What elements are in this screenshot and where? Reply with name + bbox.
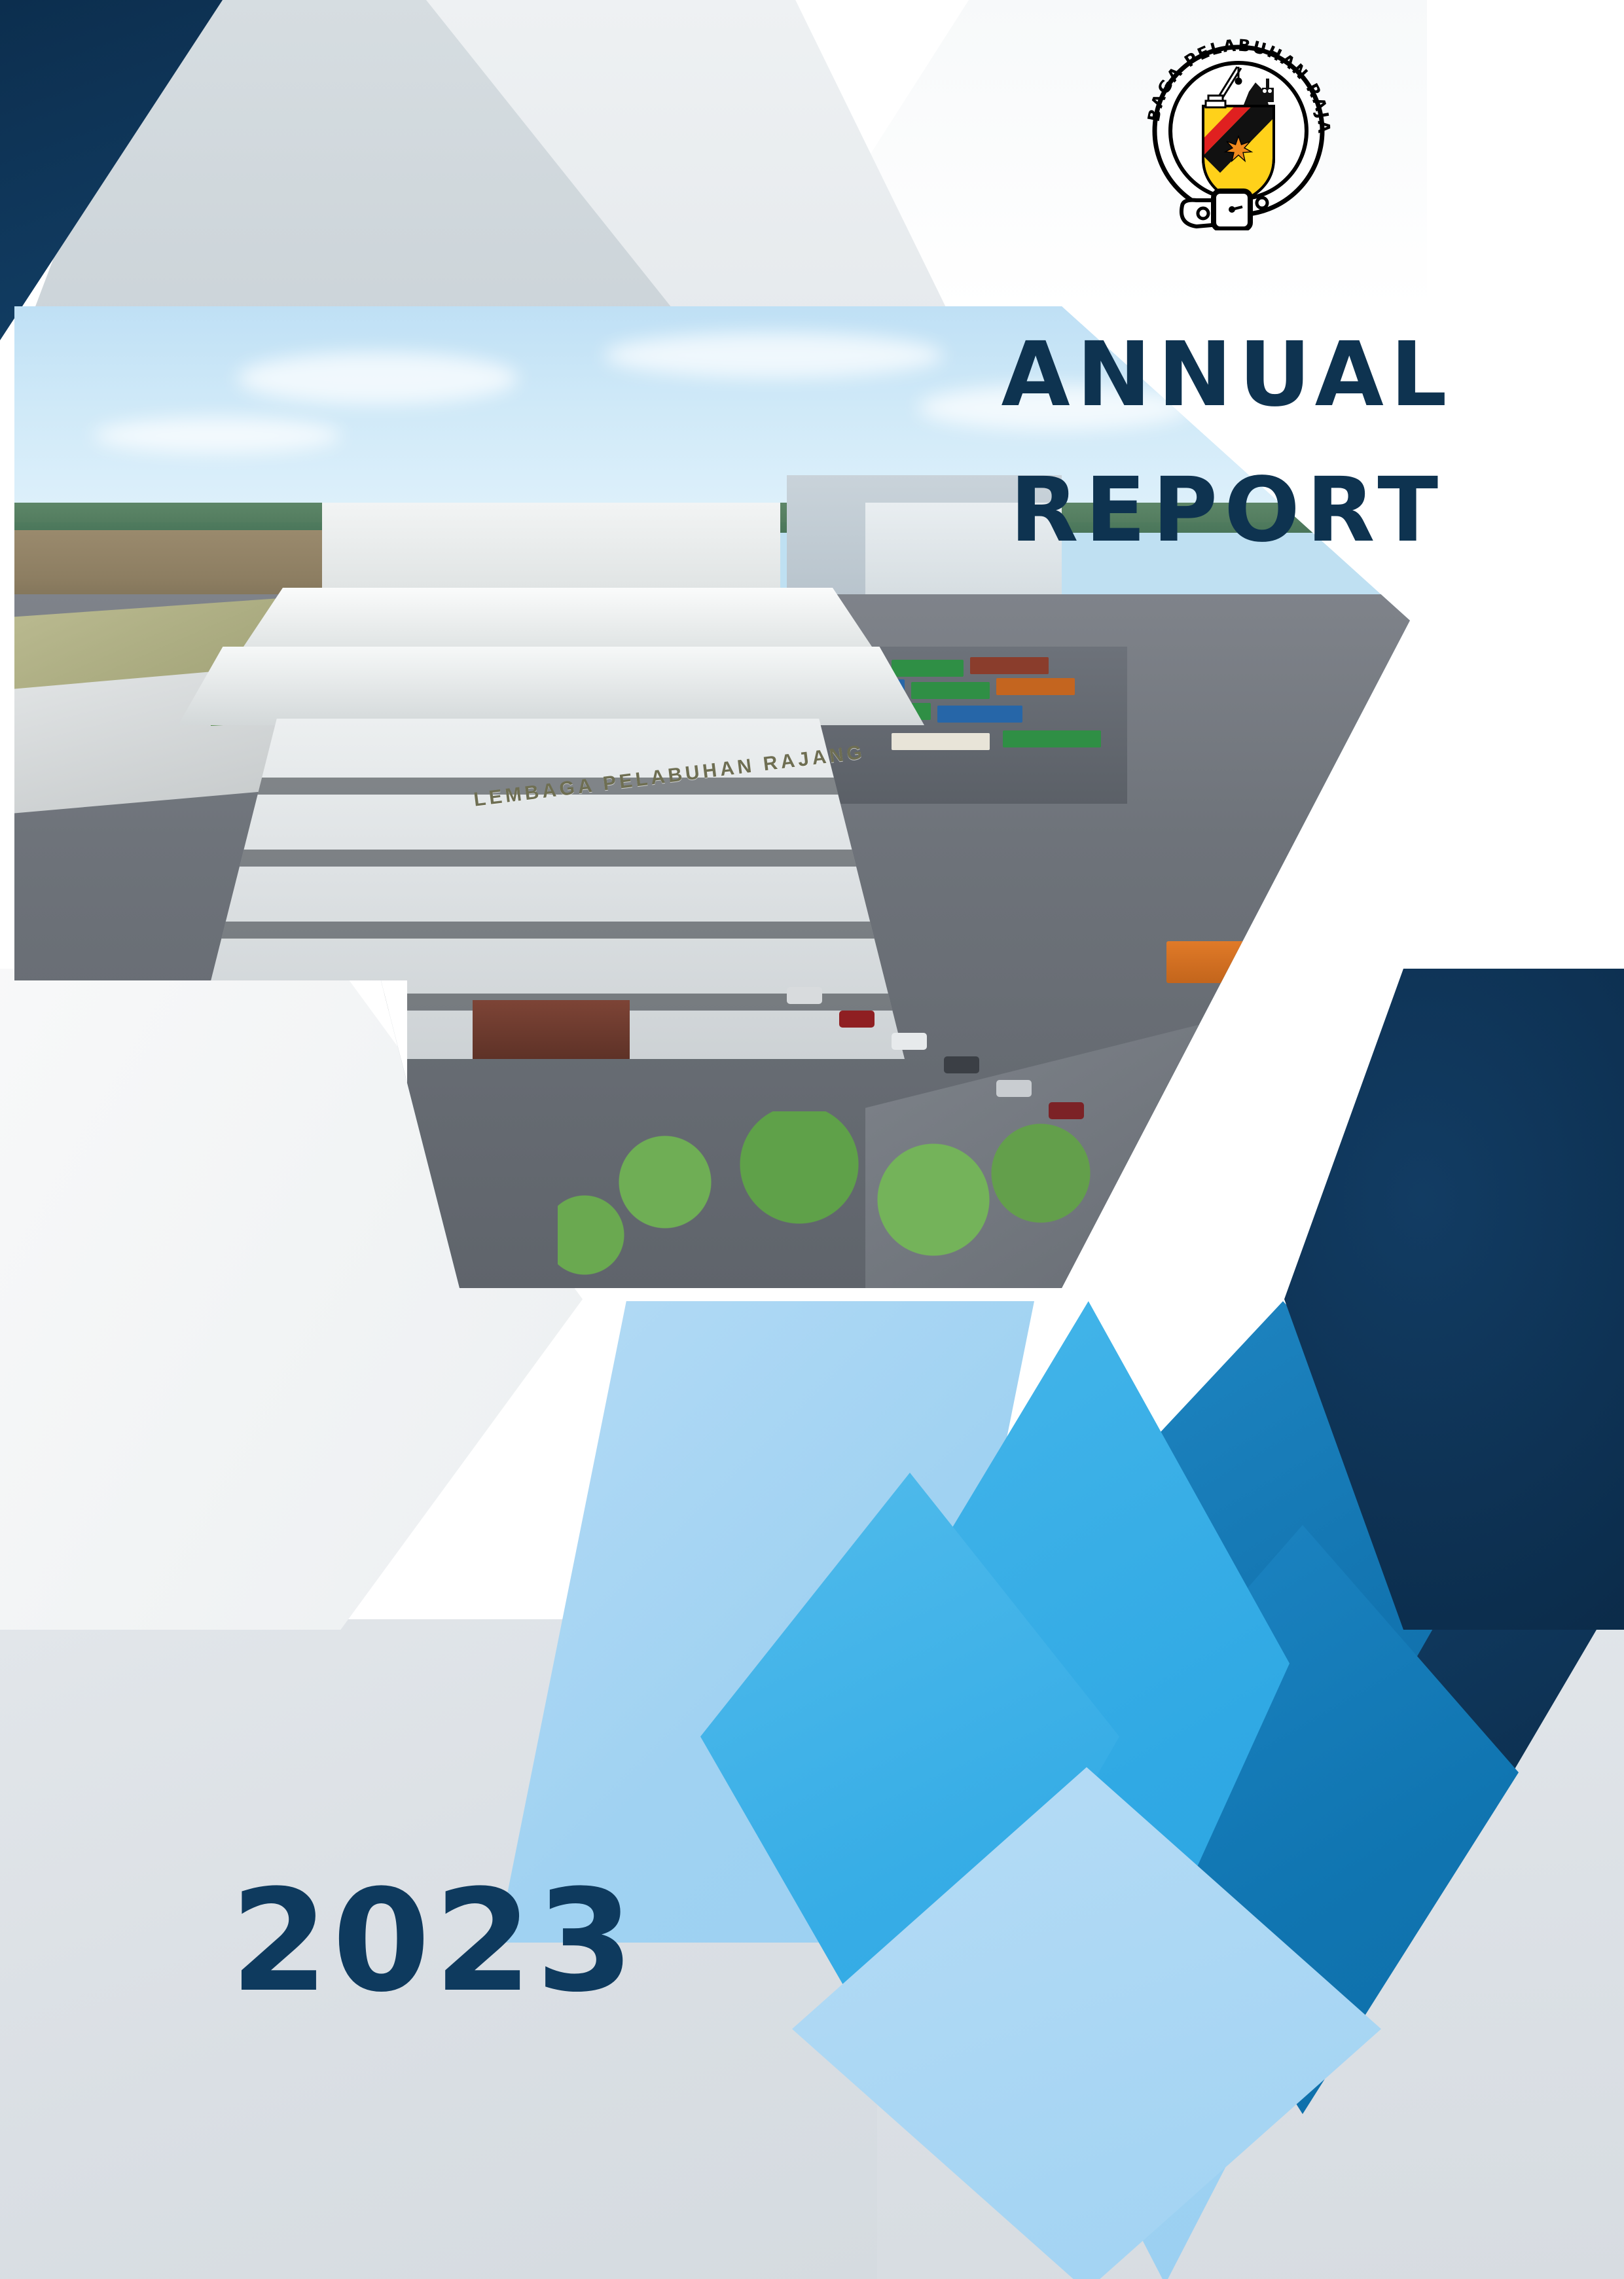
title-line-report: REPORT [871,443,1584,579]
cover-title: ANNUAL REPORT [871,308,1584,578]
photo-entrance-porch [473,1000,630,1059]
annual-report-cover-page: LEMBAGA PELABUHAN RAJANG [0,0,1624,2279]
photo-building-mid-slab [178,647,924,725]
cloud [93,418,342,454]
photo-building-penthouse [322,503,780,594]
organization-logo: LEMBAGA PELABUHAN RAJANG [1140,27,1337,230]
cover-year: 2023 [230,1871,638,2011]
photo-tree-canopy [558,1111,1094,1288]
title-line-annual: ANNUAL [871,308,1584,443]
cloud [237,352,518,404]
